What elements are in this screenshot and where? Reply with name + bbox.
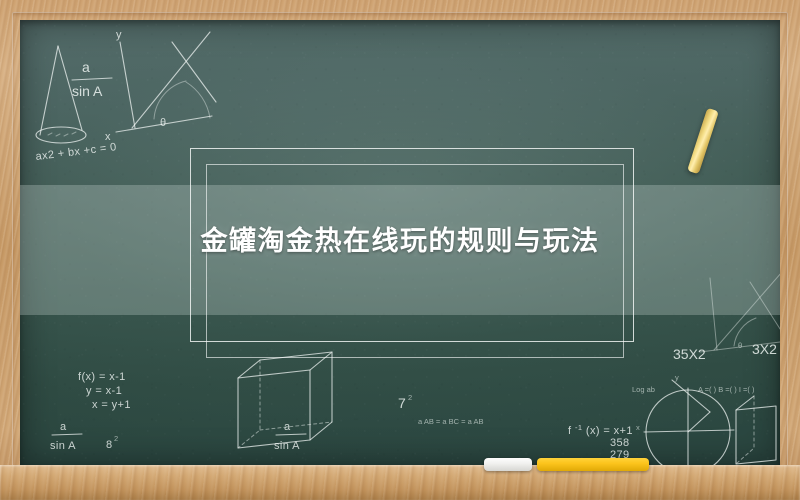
svg-text:7: 7	[398, 395, 406, 411]
chalk-stick-diagonal	[687, 108, 719, 174]
svg-text:x = y+1: x = y+1	[92, 399, 131, 411]
chalkboard-banner: a sin A y x θ ax2	[0, 0, 800, 500]
svg-text:35X2: 35X2	[673, 346, 706, 362]
svg-text:f -1 (: f -1 (x) = x+1	[568, 421, 633, 437]
svg-text:y: y	[116, 29, 122, 41]
chalk-circle-diagram: y x	[636, 373, 734, 465]
svg-text:sin A: sin A	[72, 83, 103, 99]
chalk-quadratic-equation: ax2 + bx +c = 0	[35, 141, 117, 163]
chalkboard-surface: a sin A y x θ ax2	[20, 20, 780, 465]
chalk-angle-diagram-right: θ	[700, 272, 780, 352]
svg-text:358: 358	[610, 437, 630, 449]
chalk-stick-white	[484, 458, 532, 471]
svg-text:a: a	[82, 59, 90, 75]
chalk-cube-diagram-right	[736, 396, 776, 464]
chalk-fraction-a-sinA-bottomleft: a sin A	[50, 421, 82, 452]
svg-text:θ: θ	[160, 117, 167, 129]
page-title: 金罐淘金热在线玩的规则与玩法	[201, 225, 600, 259]
chalk-cube-diagram-center	[238, 352, 332, 448]
chalk-cone-diagram	[36, 46, 86, 143]
svg-text:8: 8	[106, 439, 113, 451]
svg-text:a: a	[284, 421, 291, 433]
chalk-log-label: Log ab	[632, 385, 655, 394]
chalk-stick-yellow	[537, 458, 649, 471]
decorative-outline-inner	[206, 164, 624, 358]
svg-text:θ: θ	[738, 341, 742, 350]
chalk-angle-axes-diagram: y x θ	[105, 29, 216, 143]
chalk-fraction-a-sinA-top: a sin A	[72, 59, 112, 99]
svg-text:3X2: 3X2	[752, 341, 777, 357]
svg-text:y: y	[675, 373, 679, 382]
svg-text:x: x	[105, 131, 111, 143]
chalk-multiplication-labels: 35X2 3X2	[673, 341, 777, 362]
chalk-inverse-function: f -1 (x) = x+1	[568, 421, 633, 437]
title-container: 金罐淘金热在线玩的规则与玩法	[20, 225, 780, 259]
chalk-ledge	[0, 465, 800, 500]
svg-text:f(x) = x-1: f(x) = x-1	[78, 371, 126, 383]
chalk-fraction-a-sinA-bottomcenter: a sin A	[274, 421, 306, 452]
chalk-eight-squared: 8 2	[106, 434, 118, 451]
svg-text:sin A: sin A	[274, 440, 300, 452]
svg-text:2: 2	[114, 434, 118, 443]
chalk-matrix-expression: A =( ) B =( ) I =( )	[698, 385, 755, 394]
svg-text:sin A: sin A	[50, 440, 76, 452]
svg-text:ax2 + bx +c = 0: ax2 + bx +c = 0	[35, 141, 117, 163]
chalk-function-equations: f(x) = x-1 y = x-1 x = y+1	[78, 371, 131, 411]
svg-text:a: a	[60, 421, 67, 433]
svg-text:y = x-1: y = x-1	[86, 385, 122, 397]
svg-text:2: 2	[408, 393, 412, 402]
chalk-seven-squared: 7 2	[398, 393, 412, 411]
svg-text:x: x	[636, 423, 640, 432]
chalk-small-formula: a AB = a BC = a AB	[418, 417, 483, 426]
